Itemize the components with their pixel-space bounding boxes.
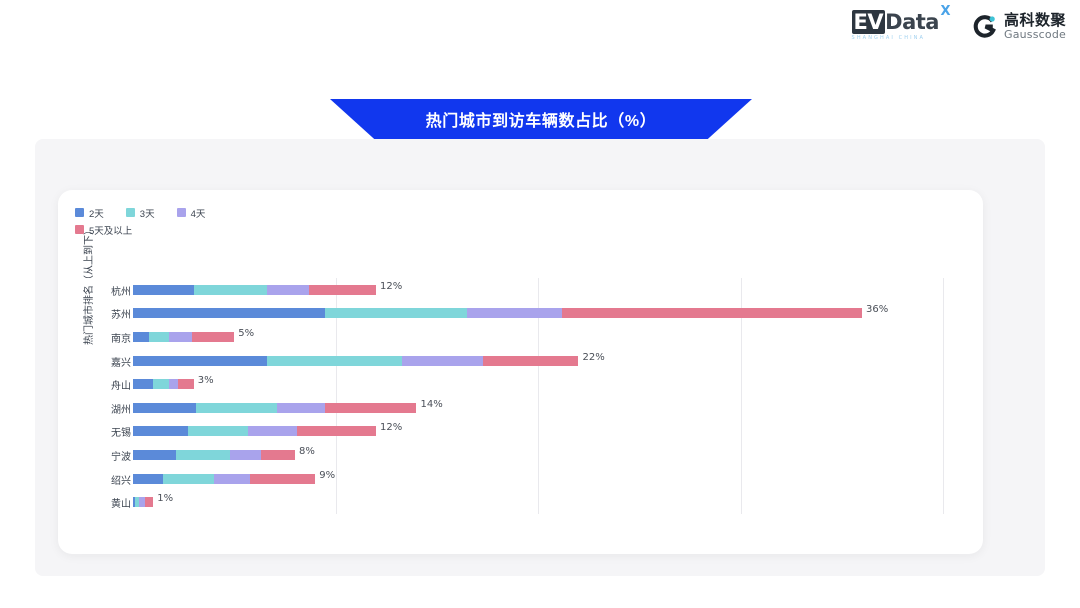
y-axis-tick-label: 绍兴 — [71, 472, 131, 487]
bar-value-label: 1% — [157, 493, 173, 504]
bar-segment-5天及以上[interactable] — [145, 497, 153, 507]
bar-segment-5天及以上[interactable] — [325, 403, 416, 413]
bar-value-label: 22% — [583, 352, 605, 363]
logo-group: EVData X SHANGHAI CHINA 高科数聚 Gausscode — [852, 12, 1066, 41]
bar-segment-2天[interactable] — [133, 403, 196, 413]
evdata-logo: EVData X SHANGHAI CHINA — [852, 12, 939, 41]
header-bar: EVData X SHANGHAI CHINA 高科数聚 Gausscode — [0, 0, 1080, 60]
bar-segment-2天[interactable] — [133, 308, 325, 318]
bar-row[interactable]: 舟山3% — [133, 373, 943, 395]
bar-row[interactable]: 嘉兴22% — [133, 350, 943, 372]
evdata-logo-superscript-x: X — [940, 5, 950, 18]
bar-row[interactable]: 无锡12% — [133, 420, 943, 442]
bar-segment-3天[interactable] — [153, 379, 169, 389]
y-axis-tick-label: 湖州 — [71, 401, 131, 416]
y-axis-tick-label: 南京 — [71, 330, 131, 345]
bar-row[interactable]: 绍兴9% — [133, 468, 943, 490]
bar-segment-5天及以上[interactable] — [192, 332, 235, 342]
y-axis-tick-label: 黄山 — [71, 495, 131, 510]
title-banner: 热门城市到访车辆数占比（%） — [330, 99, 752, 141]
bar-segment-4天[interactable] — [467, 308, 562, 318]
evdata-logo-ev-mark: EV — [852, 10, 886, 34]
bar-segment-5天及以上[interactable] — [297, 426, 376, 436]
bar-segment-3天[interactable] — [188, 426, 249, 436]
bar-segment-3天[interactable] — [267, 356, 403, 366]
y-axis-title: 热门城市排名（从上到下） — [80, 55, 94, 285]
bar-segment-5天及以上[interactable] — [261, 450, 295, 460]
bar-segment-4天[interactable] — [277, 403, 326, 413]
bar-value-label: 12% — [380, 281, 402, 292]
bar-segment-2天[interactable] — [133, 285, 194, 295]
bar-row[interactable]: 杭州12% — [133, 279, 943, 301]
gridline-40 — [943, 278, 944, 514]
y-axis-tick-label: 杭州 — [71, 283, 131, 298]
logo-divider — [955, 14, 956, 40]
y-axis-tick-label: 无锡 — [71, 424, 131, 439]
gausscode-logo: 高科数聚 Gausscode — [972, 13, 1066, 40]
bar-value-label: 14% — [421, 399, 443, 410]
gausscode-logo-text: 高科数聚 Gausscode — [1004, 13, 1066, 40]
evdata-logo-word: Data — [885, 10, 939, 34]
chart-card: 2天3天4天5天及以上 热门城市排名（从上到下） 杭州12%苏州36%南京5%嘉… — [58, 190, 983, 554]
stacked-bar — [133, 403, 416, 413]
bar-segment-4天[interactable] — [214, 474, 250, 484]
bar-segment-5天及以上[interactable] — [178, 379, 194, 389]
bar-segment-3天[interactable] — [176, 450, 231, 460]
bar-segment-4天[interactable] — [402, 356, 483, 366]
gausscode-logo-en: Gausscode — [1004, 29, 1066, 41]
stacked-bar — [133, 356, 578, 366]
gausscode-g-icon — [972, 14, 997, 39]
bar-segment-2天[interactable] — [133, 450, 176, 460]
bar-value-label: 5% — [238, 328, 254, 339]
y-axis-tick-label: 苏州 — [71, 306, 131, 321]
bar-segment-3天[interactable] — [196, 403, 277, 413]
bar-value-label: 3% — [198, 375, 214, 386]
stacked-bar — [133, 497, 153, 507]
bar-segment-3天[interactable] — [149, 332, 169, 342]
bar-value-label: 36% — [866, 304, 888, 315]
stacked-bar — [133, 285, 376, 295]
bar-segment-5天及以上[interactable] — [483, 356, 578, 366]
stacked-bar — [133, 474, 315, 484]
stacked-bar — [133, 308, 862, 318]
stacked-bar — [133, 332, 234, 342]
chart-plot-wrapper: 热门城市排名（从上到下） 杭州12%苏州36%南京5%嘉兴22%舟山3%湖州14… — [58, 190, 983, 554]
bar-value-label: 8% — [299, 446, 315, 457]
bar-segment-2天[interactable] — [133, 332, 149, 342]
bar-value-label: 9% — [319, 470, 335, 481]
bar-segment-4天[interactable] — [169, 379, 177, 389]
bar-row[interactable]: 宁波8% — [133, 444, 943, 466]
bar-segment-4天[interactable] — [230, 450, 260, 460]
bar-row[interactable]: 湖州14% — [133, 397, 943, 419]
bar-row[interactable]: 苏州36% — [133, 302, 943, 324]
page-title: 热门城市到访车辆数占比（%） — [330, 99, 752, 141]
y-axis-tick-label: 嘉兴 — [71, 354, 131, 369]
bar-value-label: 12% — [380, 422, 402, 433]
bar-segment-4天[interactable] — [169, 332, 191, 342]
stacked-bar — [133, 450, 295, 460]
bar-segment-4天[interactable] — [248, 426, 297, 436]
bar-segment-3天[interactable] — [194, 285, 267, 295]
bar-segment-3天[interactable] — [163, 474, 214, 484]
chart-plot-area: 杭州12%苏州36%南京5%嘉兴22%舟山3%湖州14%无锡12%宁波8%绍兴9… — [133, 278, 943, 514]
evdata-logo-wordmark: EVData X — [852, 12, 939, 33]
bar-segment-2天[interactable] — [133, 379, 153, 389]
stacked-bar — [133, 426, 376, 436]
evdata-logo-subtitle: SHANGHAI CHINA — [852, 36, 926, 41]
bar-segment-5天及以上[interactable] — [250, 474, 315, 484]
bar-segment-5天及以上[interactable] — [309, 285, 376, 295]
bar-segment-3天[interactable] — [325, 308, 467, 318]
bar-segment-2天[interactable] — [133, 474, 163, 484]
y-axis-tick-label: 宁波 — [71, 448, 131, 463]
bar-segment-2天[interactable] — [133, 426, 188, 436]
stacked-bar — [133, 379, 194, 389]
bar-segment-5天及以上[interactable] — [562, 308, 862, 318]
gausscode-logo-cn: 高科数聚 — [1004, 13, 1066, 29]
bar-row[interactable]: 黄山1% — [133, 491, 943, 513]
bar-segment-4天[interactable] — [267, 285, 310, 295]
bar-row[interactable]: 南京5% — [133, 326, 943, 348]
y-axis-tick-label: 舟山 — [71, 377, 131, 392]
bar-segment-2天[interactable] — [133, 356, 267, 366]
